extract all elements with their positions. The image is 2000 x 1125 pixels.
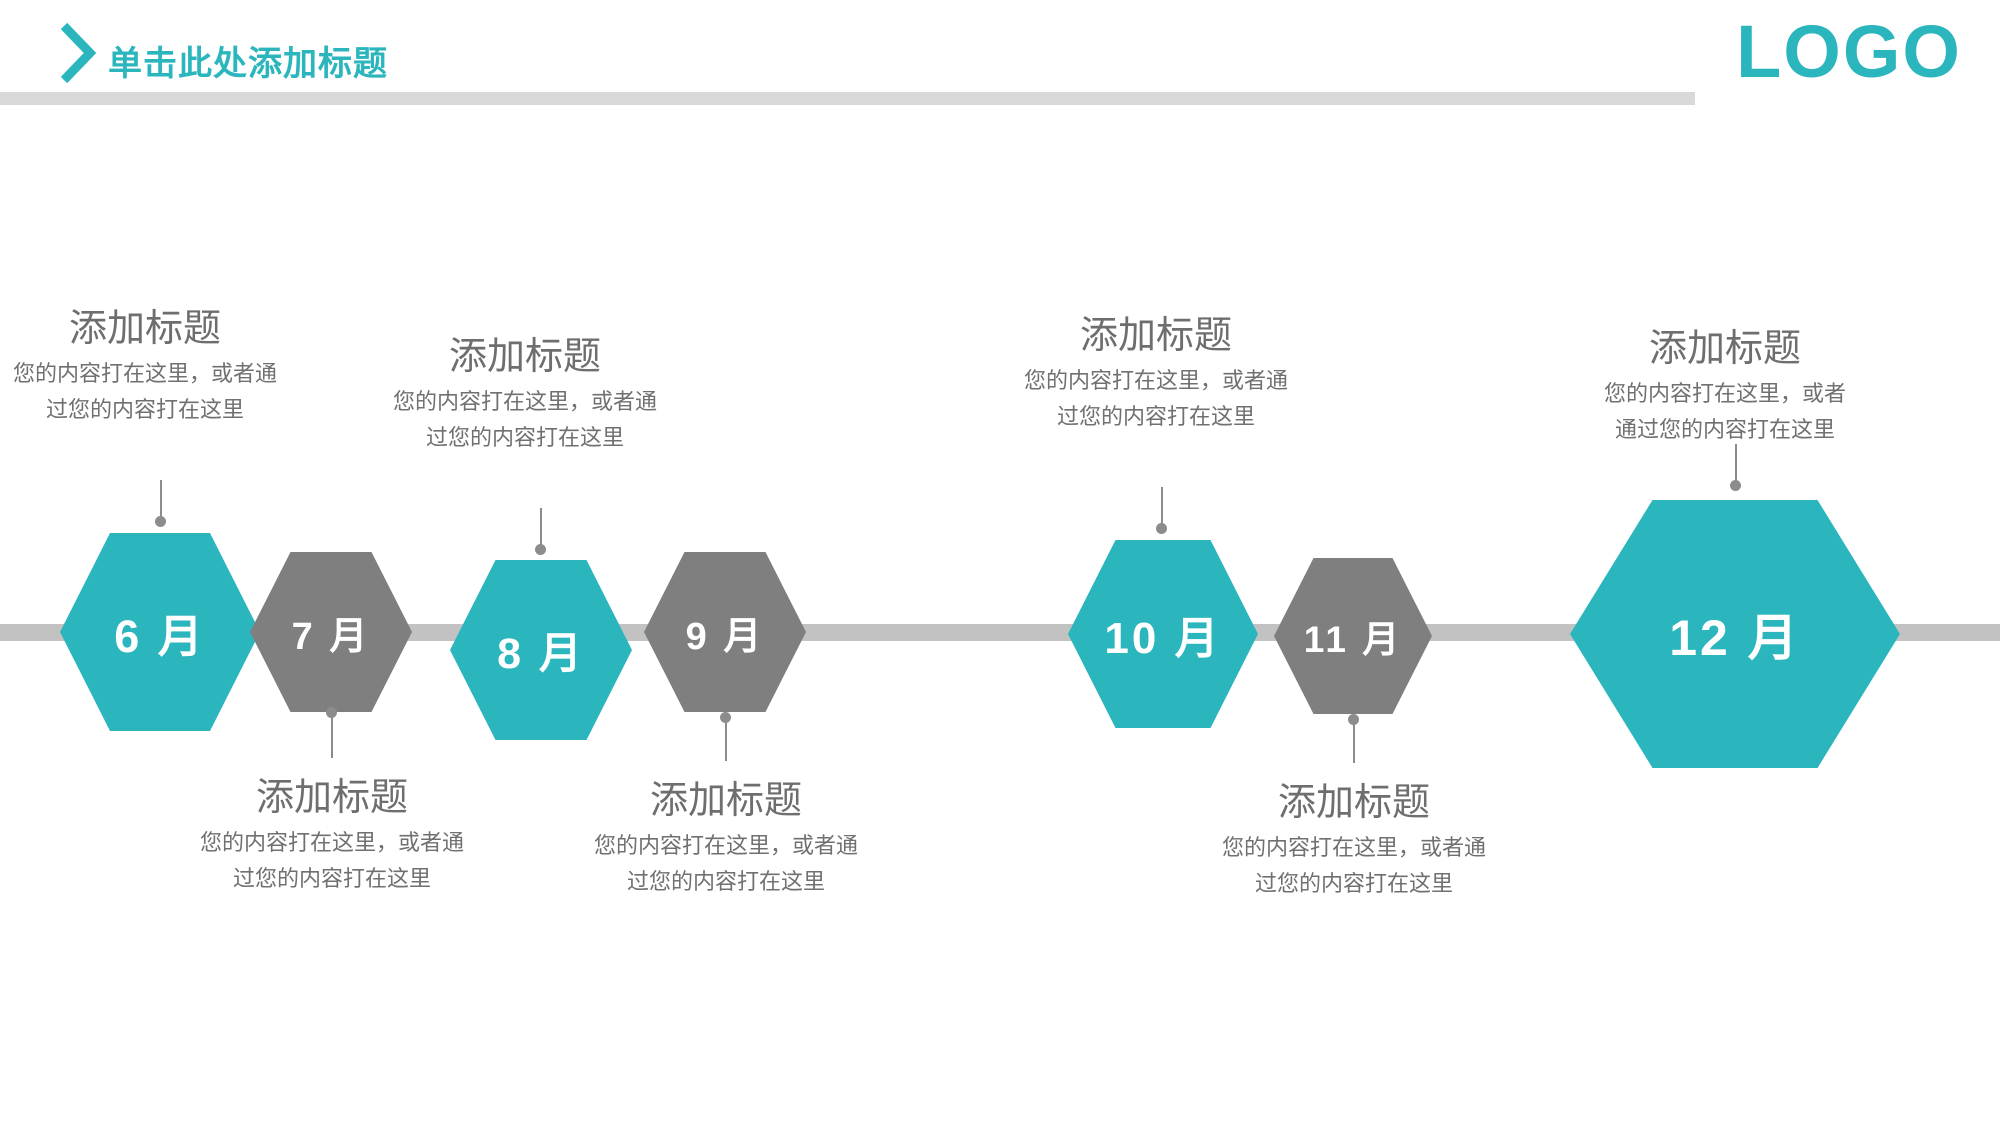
caption-title: 添加标题 [1570,326,1880,372]
caption-9: 添加标题 您的内容打在这里，或者通 过您的内容打在这里 [556,778,896,900]
hexagon-10[interactable]: 10 月 [1068,540,1258,728]
connector-line-7 [331,712,333,758]
logo: LOGO [1736,15,1962,89]
caption-body-line-1: 您的内容打在这里，或者通 [355,384,695,420]
hexagon-label: 9 月 [686,605,765,660]
caption-title: 添加标题 [986,313,1326,359]
caption-6: 添加标题 您的内容打在这里，或者通 过您的内容打在这里 [0,306,315,428]
caption-body-line-1: 您的内容打在这里，或者通 [986,363,1326,399]
slide-canvas: 单击此处添加标题 LOGO 添加标题 您的内容打在这里，或者通 过您的内容打在这… [0,0,2000,1125]
caption-body-line-2: 过您的内容打在这里 [162,861,502,897]
caption-body-line-1: 您的内容打在这里，或者通 [556,828,896,864]
connector-dot-10 [1156,523,1167,534]
hexagon-label: 11 月 [1304,609,1402,663]
caption-title: 添加标题 [556,778,896,824]
caption-body: 您的内容打在这里，或者通 过您的内容打在这里 [355,384,695,456]
hexagon-label: 12 月 [1669,598,1801,670]
caption-10: 添加标题 您的内容打在这里，或者通 过您的内容打在这里 [986,313,1326,435]
caption-body-line-1: 您的内容打在这里，或者通 [1184,830,1524,866]
caption-body-line-1: 您的内容打在这里，或者通 [0,356,315,392]
caption-body: 您的内容打在这里，或者 通过您的内容打在这里 [1570,376,1880,448]
caption-title: 添加标题 [0,306,315,352]
caption-12: 添加标题 您的内容打在这里，或者 通过您的内容打在这里 [1570,326,1880,448]
hexagon-label: 7 月 [292,605,371,660]
hexagon-11[interactable]: 11 月 [1274,558,1432,714]
caption-title: 添加标题 [355,334,695,380]
caption-body: 您的内容打在这里，或者通 过您的内容打在这里 [1184,830,1524,902]
hexagon-12[interactable]: 12 月 [1570,500,1900,768]
caption-body-line-2: 过您的内容打在这里 [355,420,695,456]
caption-title: 添加标题 [162,775,502,821]
page-title: 单击此处添加标题 [108,36,388,85]
caption-body-line-2: 过您的内容打在这里 [0,392,315,428]
caption-title: 添加标题 [1184,780,1524,826]
caption-body: 您的内容打在这里，或者通 过您的内容打在这里 [986,363,1326,435]
caption-body-line-1: 您的内容打在这里，或者通 [162,825,502,861]
hexagon-6[interactable]: 6 月 [60,533,260,731]
caption-7: 添加标题 您的内容打在这里，或者通 过您的内容打在这里 [162,775,502,897]
hexagon-8[interactable]: 8 月 [450,560,632,740]
header-divider [0,92,1695,105]
caption-body: 您的内容打在这里，或者通 过您的内容打在这里 [0,356,315,428]
hexagon-label: 8 月 [497,619,585,681]
hexagon-9[interactable]: 9 月 [644,552,806,712]
connector-line-11 [1353,719,1355,763]
caption-body-line-2: 通过您的内容打在这里 [1570,412,1880,448]
caption-11: 添加标题 您的内容打在这里，或者通 过您的内容打在这里 [1184,780,1524,902]
slide-header: 单击此处添加标题 LOGO [0,0,2000,125]
caption-8: 添加标题 您的内容打在这里，或者通 过您的内容打在这里 [355,334,695,456]
hexagon-label: 10 月 [1104,602,1221,666]
connector-dot-6 [155,516,166,527]
caption-body-line-2: 过您的内容打在这里 [556,864,896,900]
connector-line-9 [725,717,727,761]
chevron-right-icon [58,22,98,84]
caption-body: 您的内容打在这里，或者通 过您的内容打在这里 [162,825,502,897]
caption-body-line-1: 您的内容打在这里，或者 [1570,376,1880,412]
hexagon-label: 6 月 [114,600,206,665]
caption-body-line-2: 过您的内容打在这里 [1184,866,1524,902]
connector-dot-8 [535,544,546,555]
caption-body-line-2: 过您的内容打在这里 [986,399,1326,435]
hexagon-7[interactable]: 7 月 [250,552,412,712]
caption-body: 您的内容打在这里，或者通 过您的内容打在这里 [556,828,896,900]
connector-dot-12 [1730,480,1741,491]
